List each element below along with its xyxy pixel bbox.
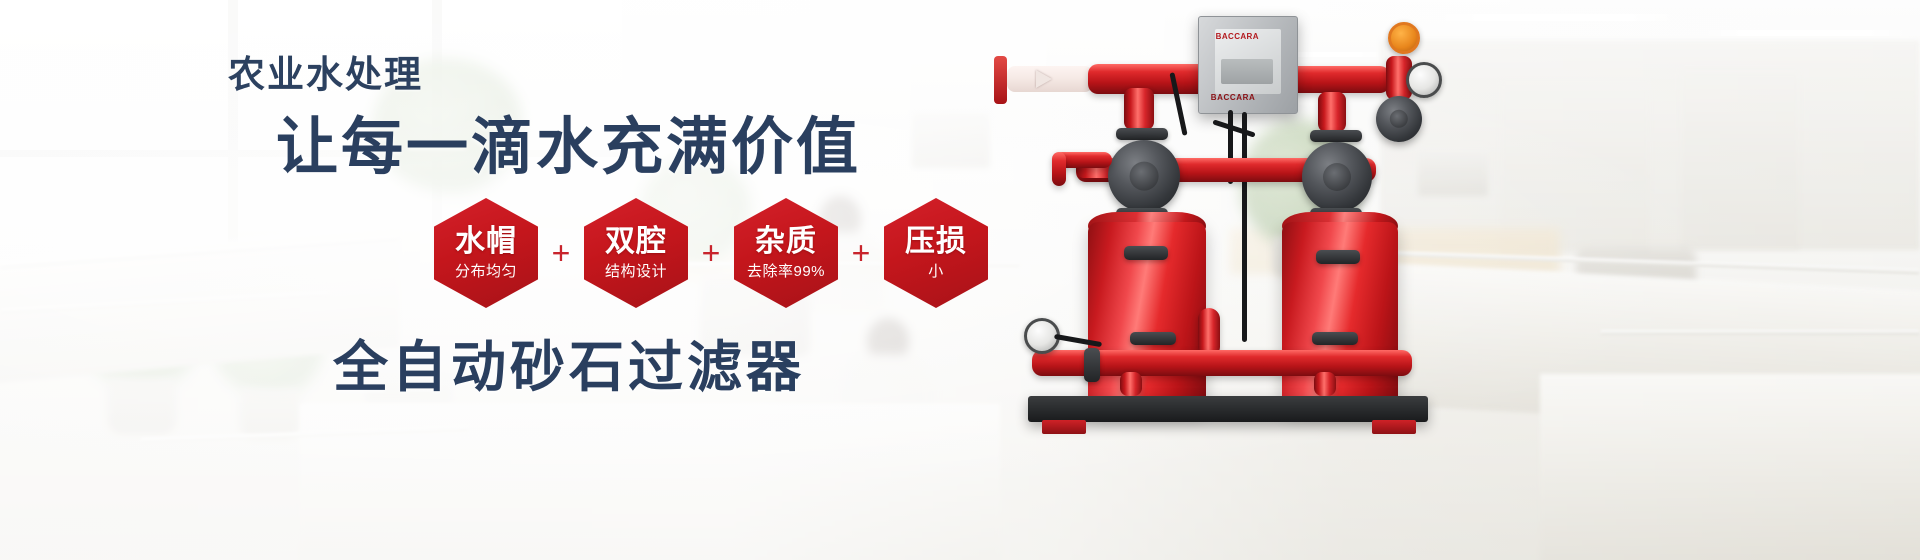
product-title-text: 全自动砂石过滤器 [333,322,805,402]
control-valve [1302,142,1372,212]
plus-separator-icon: + [538,237,584,269]
product-image-sand-filter: BACCARA BACCARA [980,0,1540,470]
plus-separator-icon: + [838,237,884,269]
tank-clamp [1316,250,1360,264]
valve-cap [1390,110,1408,128]
controller-brand-label-secondary: BACCARA [1211,93,1256,102]
side-valve [1376,96,1422,142]
manifold-clamp [1312,332,1358,345]
valve-cap [1130,162,1159,191]
plus-separator-icon: + [688,237,734,269]
valve-clamp [1310,130,1362,142]
feature-badge-title: 杂质 [755,227,817,257]
headline-text: 让每一滴水充满价值 [276,96,861,186]
manifold-stub [1120,372,1142,396]
manifold-clamp [1130,332,1176,345]
tee-riser [1318,92,1346,132]
pressure-relief-valve [1388,22,1420,54]
solenoid [1084,348,1100,382]
feature-badge: 压损 小 [884,198,988,308]
promo-banner: BACCARA BACCARA [0,0,1920,560]
eyebrow-text: 农业水处理 [228,44,423,98]
valve-cap [1323,163,1351,191]
feature-badge-title: 水帽 [455,227,517,257]
feature-badge-subtitle: 去除率99% [747,264,825,279]
manifold-stub [1314,372,1336,396]
feature-badge: 水帽 分布均匀 [434,198,538,308]
feature-badge-row: 水帽 分布均匀 + 双腔 结构设计 + 杂质 去除率99% + 压损 小 [434,198,988,308]
controller-display [1221,59,1274,84]
control-cable [1242,112,1247,342]
feature-badge-subtitle: 小 [928,264,944,279]
skid-base [1028,396,1428,422]
feature-badge-subtitle: 分布均匀 [455,264,517,279]
controller-brand-label: BACCARA [1216,32,1259,41]
tee-riser [1124,88,1154,130]
side-nozzle [1052,152,1066,186]
pressure-gauge [1406,62,1442,98]
valve-clamp [1116,128,1168,140]
feature-badge-title: 双腔 [605,227,667,257]
feature-badge-subtitle: 结构设计 [605,264,667,279]
inlet-pipe-arrow [1007,66,1093,92]
feature-badge-title: 压损 [905,227,967,257]
control-cable [1212,119,1255,137]
feature-badge: 双腔 结构设计 [584,198,688,308]
control-valve [1108,140,1180,212]
feature-badge: 杂质 去除率99% [734,198,838,308]
skid-foot [1372,420,1416,434]
skid-foot [1042,420,1086,434]
tank-clamp [1124,246,1168,260]
controller-box: BACCARA BACCARA [1198,16,1298,114]
